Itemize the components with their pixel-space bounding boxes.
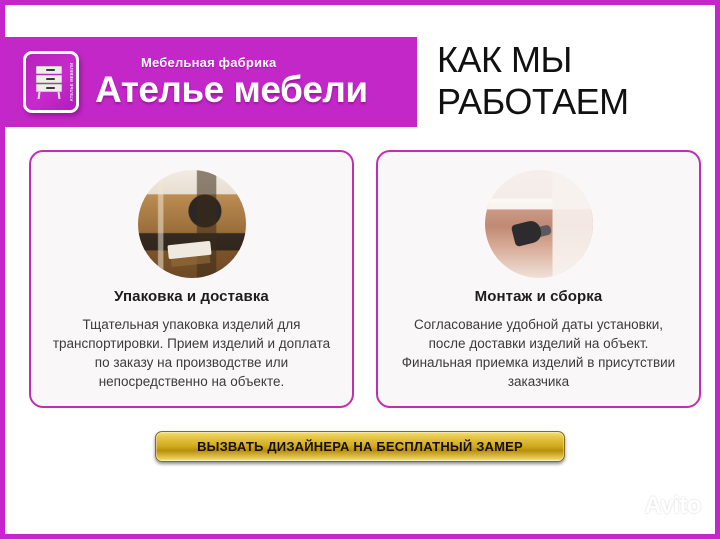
feature-cards: Упаковка и доставка Тщательная упаковка … [29,150,701,408]
card-title: Монтаж и сборка [390,288,687,305]
logo-vertical-text: АТЕЛЬЕ МЕБЕЛИ [70,63,74,102]
card-description: Согласование удобной даты установки, пос… [390,315,687,392]
avito-circles-icon [614,494,640,518]
card-description: Тщательная упаковка изделий для транспор… [43,315,340,392]
brand-logo: АТЕЛЬЕ МЕБЕЛИ [23,51,79,113]
brand-wordmark: Мебельная фабрика Ателье мебели [95,56,368,108]
brand-name: Ателье мебели [95,71,368,108]
call-designer-button[interactable]: ВЫЗВАТЬ ДИЗАЙНЕРА НА БЕСПЛАТНЫЙ ЗАМЕР [155,431,565,462]
workshop-craftsman-photo [138,170,246,278]
furniture-assembly-photo [485,170,593,278]
dresser-icon [36,66,62,99]
brand-banner: АТЕЛЬЕ МЕБЕЛИ Мебельная фабрика Ателье м… [5,37,417,127]
feature-card-assembly: Монтаж и сборка Согласование удобной дат… [376,150,701,408]
cta-container: ВЫЗВАТЬ ДИЗАЙНЕРА НА БЕСПЛАТНЫЙ ЗАМЕР [5,431,715,462]
brand-kicker: Мебельная фабрика [141,56,368,69]
avito-watermark-text: Avito [644,494,701,518]
page-title: КАК МЫ РАБОТАЕМ [437,39,707,124]
avito-watermark: Avito [614,494,701,518]
feature-card-delivery: Упаковка и доставка Тщательная упаковка … [29,150,354,408]
advertisement-page: АТЕЛЬЕ МЕБЕЛИ Мебельная фабрика Ателье м… [0,0,720,539]
card-title: Упаковка и доставка [43,288,340,305]
